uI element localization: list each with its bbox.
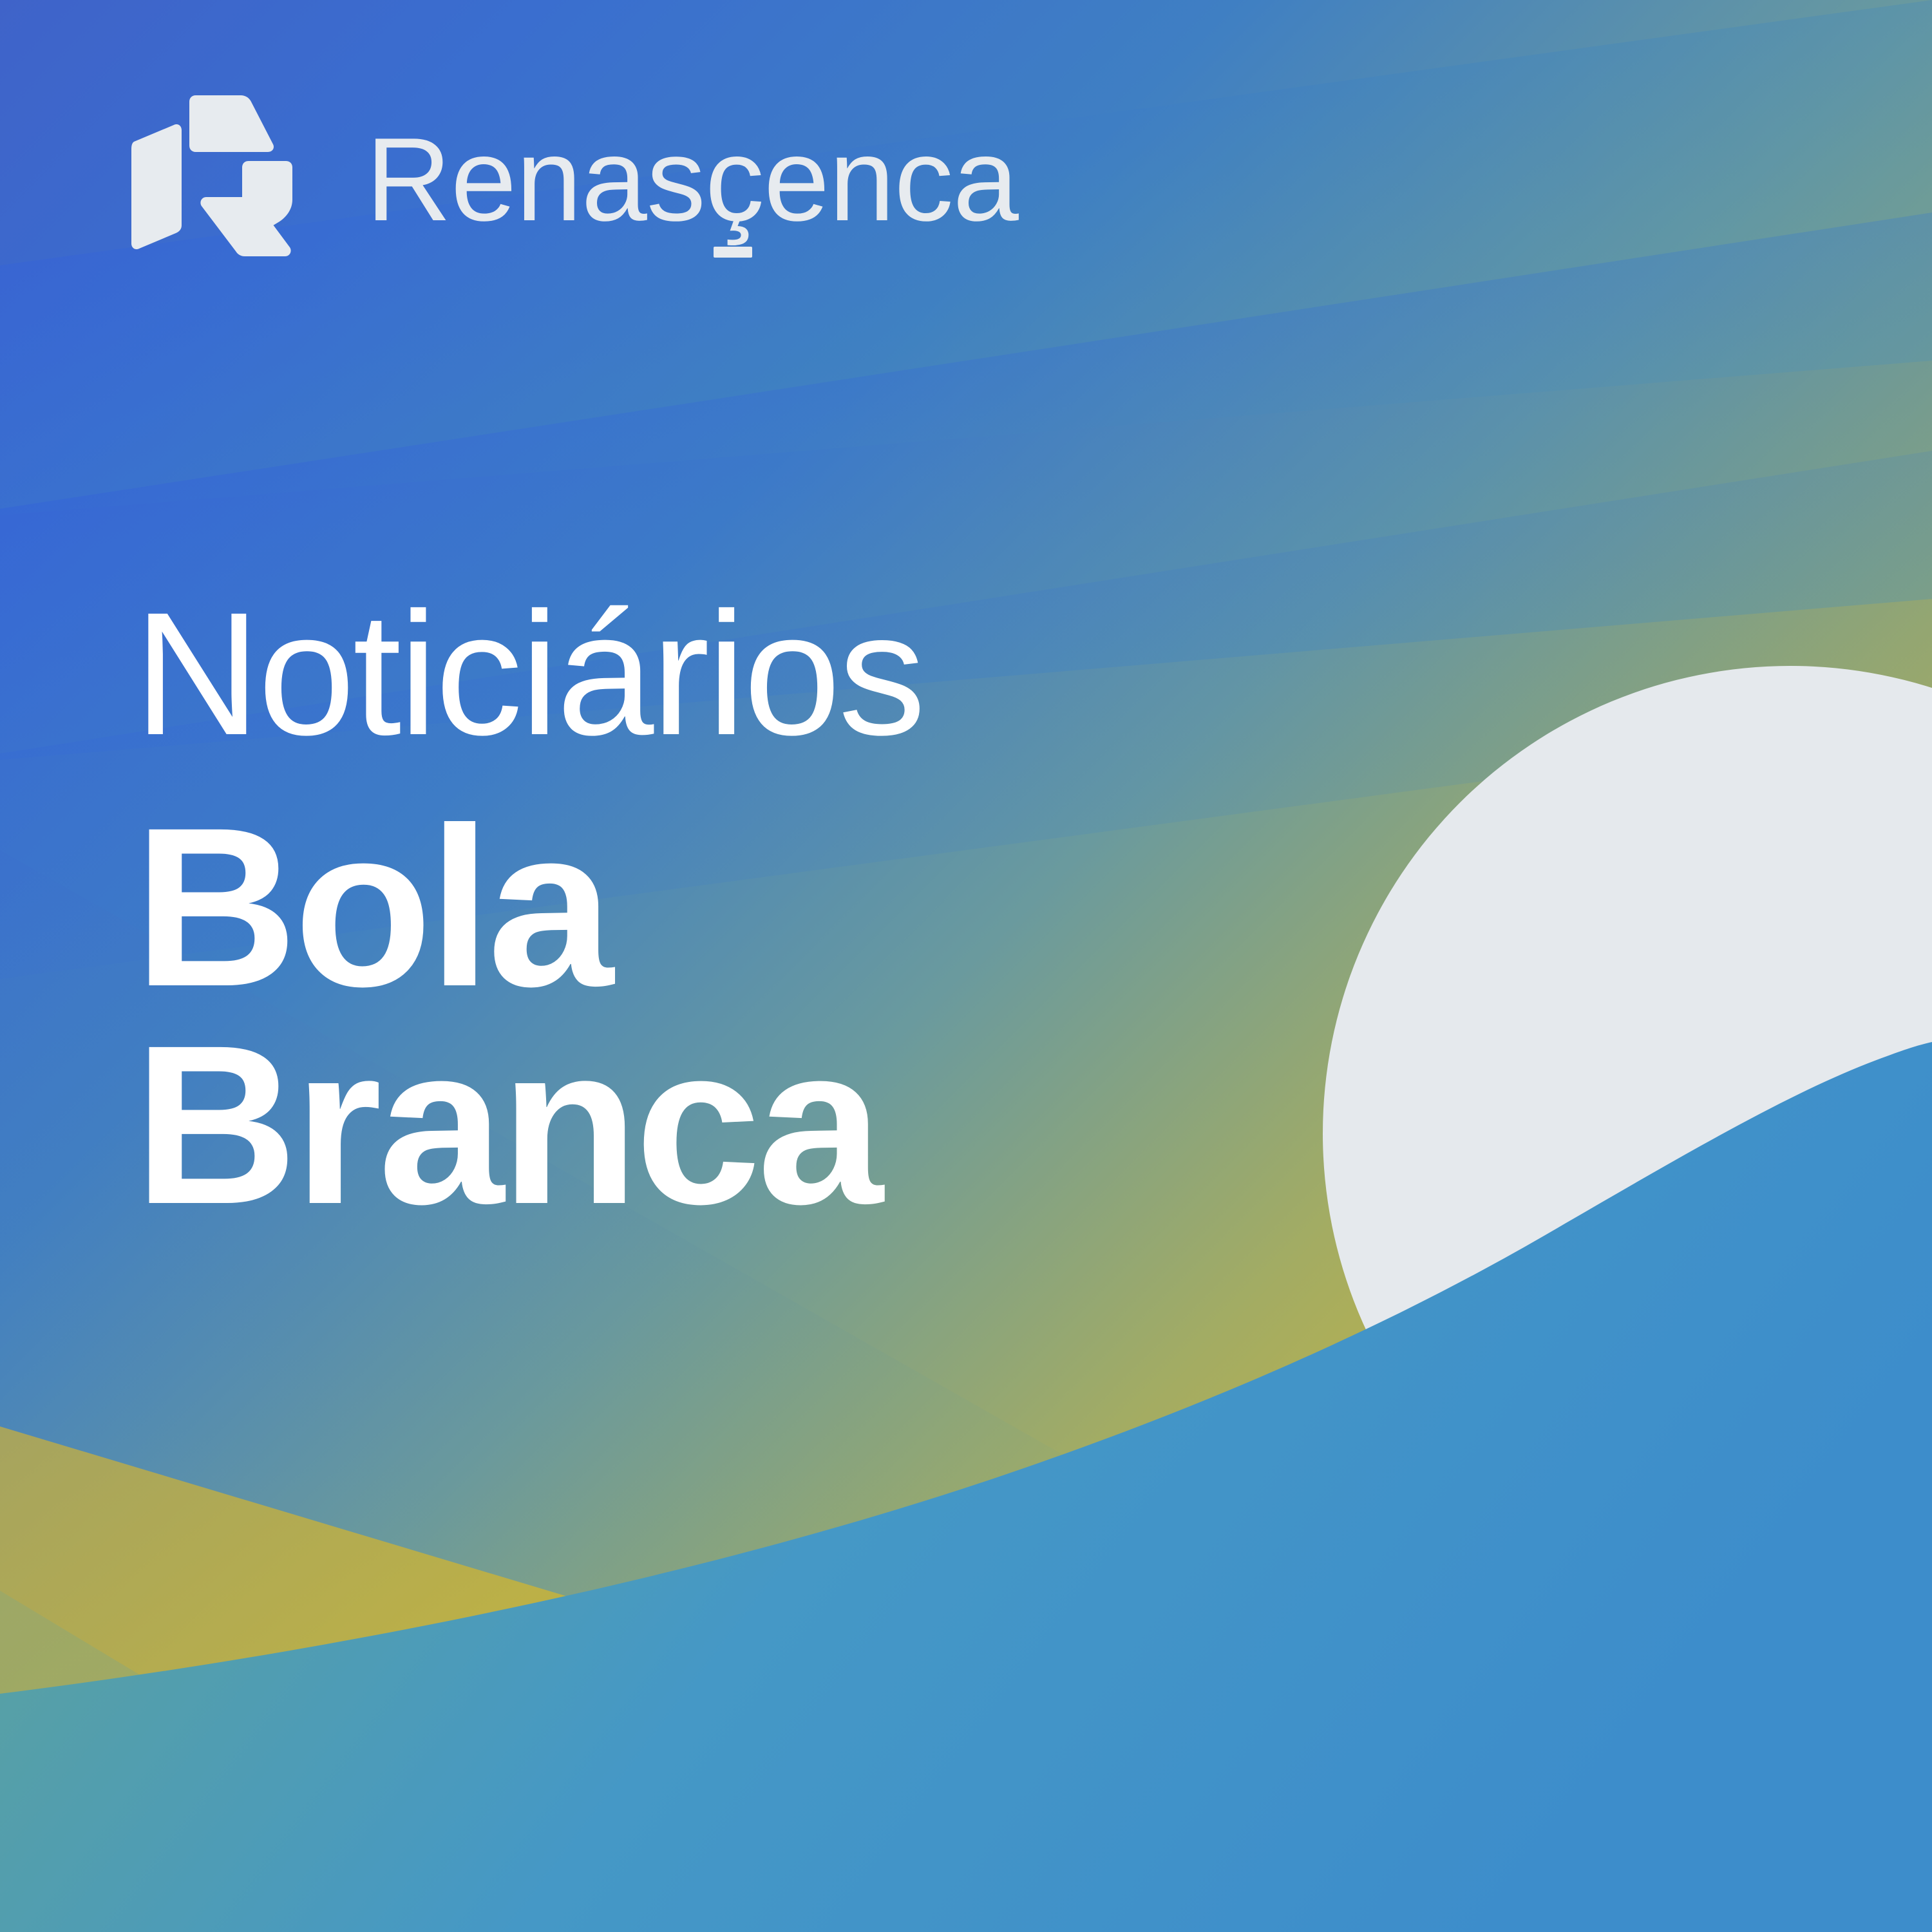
brand-lockup: Renasçenca	[126, 89, 1018, 261]
brand-wordmark: Renasçenca	[366, 120, 1018, 238]
brand-wordmark-cedilla: ç	[705, 120, 764, 238]
brand-wordmark-part-2: enca	[764, 113, 1018, 245]
renascenca-r-monogram-icon	[126, 89, 299, 261]
show-main-title: Bola Branca	[134, 799, 1422, 1234]
brand-wordmark-part-1: Renas	[366, 113, 705, 245]
show-kicker-title: Noticiários	[134, 583, 1422, 765]
podcast-cover-artwork: Renasçenca Noticiários Bola Branca	[0, 0, 1932, 1932]
title-block: Noticiários Bola Branca	[134, 583, 1422, 1234]
show-main-title-line-1: Bola	[134, 799, 1422, 1016]
show-main-title-line-2: Branca	[134, 1016, 1422, 1234]
